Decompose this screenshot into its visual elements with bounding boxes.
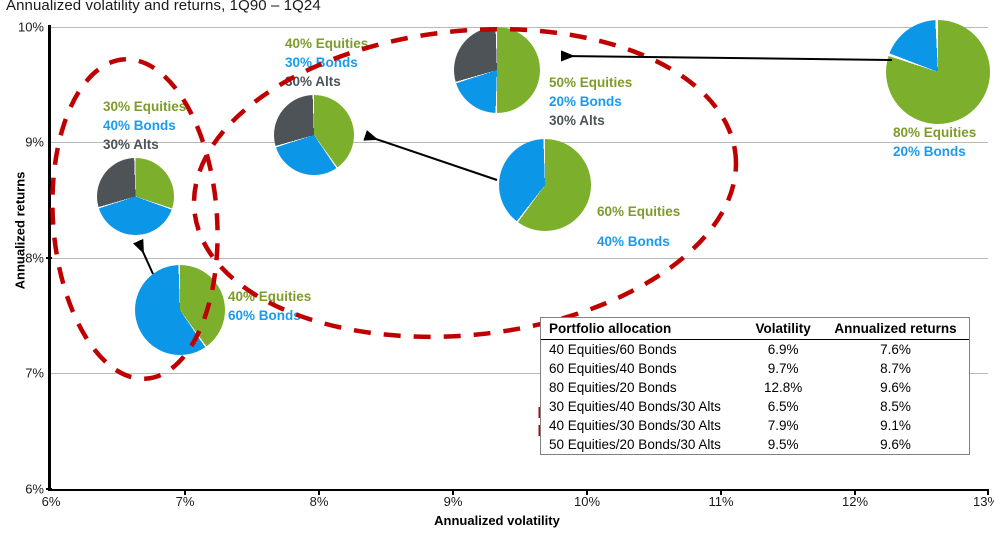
cell-allocation: 80 Equities/20 Bonds xyxy=(541,378,744,397)
pie-40-60-equities: 40% Equities xyxy=(228,287,311,306)
x-tick-10: 10% xyxy=(574,494,600,509)
x-tick-8: 8% xyxy=(310,494,329,509)
pie-60-40-label: 60% Equities 40% Bonds xyxy=(597,197,680,257)
y-tick-6: 6% xyxy=(0,482,44,497)
cell-volatility: 6.9% xyxy=(744,340,820,360)
pie-40-60-label: 40% Equities 60% Bonds xyxy=(228,287,311,325)
pie-50-20-30 xyxy=(454,27,540,113)
x-tick-12: 12% xyxy=(842,494,868,509)
x-tick-mark-13 xyxy=(987,489,989,495)
x-tick-13: 13% xyxy=(973,494,994,509)
th-annualized-returns: Annualized returns xyxy=(820,318,969,340)
cell-allocation: 40 Equities/30 Bonds/30 Alts xyxy=(541,416,744,435)
x-axis-line xyxy=(48,489,988,491)
pie-30-40-30-equities: 30% Equities xyxy=(103,97,186,116)
table-row: 50 Equities/20 Bonds/30 Alts 9.5% 9.6% xyxy=(541,435,969,454)
table-row: 40 Equities/30 Bonds/30 Alts 7.9% 9.1% xyxy=(541,416,969,435)
th-volatility: Volatility xyxy=(744,318,820,340)
y-tick-mark-6 xyxy=(46,488,52,490)
pie-50-20-30-label: 50% Equities 20% Bonds 30% Alts xyxy=(549,73,632,130)
table-row: 80 Equities/20 Bonds 12.8% 9.6% xyxy=(541,378,969,397)
table-header-row: Portfolio allocation Volatility Annualiz… xyxy=(541,318,969,340)
table-row: 60 Equities/40 Bonds 9.7% 8.7% xyxy=(541,359,969,378)
th-portfolio-allocation: Portfolio allocation xyxy=(541,318,744,340)
pie-30-40-30-bonds: 40% Bonds xyxy=(103,116,186,135)
pie-40-30-30-label: 40% Equities 30% Bonds 30% Alts xyxy=(285,34,368,91)
pie-40-60 xyxy=(135,265,225,355)
cell-volatility: 9.7% xyxy=(744,359,820,378)
pie-40-30-30-equities: 40% Equities xyxy=(285,34,368,53)
cell-returns: 9.6% xyxy=(820,378,969,397)
cell-returns: 8.5% xyxy=(820,397,969,416)
pie-50-20-30-alts: 30% Alts xyxy=(549,111,632,130)
cell-volatility: 9.5% xyxy=(744,435,820,454)
table-row: 40 Equities/60 Bonds 6.9% 7.6% xyxy=(541,340,969,360)
portfolio-allocation-table: Portfolio allocation Volatility Annualiz… xyxy=(540,317,970,455)
gridline-9 xyxy=(51,142,988,143)
cell-allocation: 30 Equities/40 Bonds/30 Alts xyxy=(541,397,744,416)
x-tick-mark-8 xyxy=(318,489,320,495)
cell-returns: 9.6% xyxy=(820,435,969,454)
pie-40-60-bonds: 60% Bonds xyxy=(228,306,311,325)
cell-volatility: 6.5% xyxy=(744,397,820,416)
cell-returns: 7.6% xyxy=(820,340,969,360)
x-tick-mark-9 xyxy=(452,489,454,495)
cell-allocation: 60 Equities/40 Bonds xyxy=(541,359,744,378)
cell-allocation: 40 Equities/60 Bonds xyxy=(541,340,744,360)
y-tick-mark-8 xyxy=(46,257,52,259)
table-row: 30 Equities/40 Bonds/30 Alts 6.5% 8.5% xyxy=(541,397,969,416)
cell-returns: 9.1% xyxy=(820,416,969,435)
x-tick-6: 6% xyxy=(42,494,61,509)
x-tick-mark-12 xyxy=(854,489,856,495)
y-tick-7: 7% xyxy=(0,366,44,381)
page-title: Annualized volatility and returns, 1Q90 … xyxy=(6,0,321,14)
x-tick-7: 7% xyxy=(176,494,195,509)
cell-allocation: 50 Equities/20 Bonds/30 Alts xyxy=(541,435,744,454)
pie-30-40-30-label: 30% Equities 40% Bonds 30% Alts xyxy=(103,97,186,154)
y-tick-10: 10% xyxy=(0,20,44,35)
chart-root: Annualized volatility and returns, 1Q90 … xyxy=(0,0,994,537)
x-tick-9: 9% xyxy=(444,494,463,509)
x-tick-mark-10 xyxy=(586,489,588,495)
pie-30-40-30 xyxy=(97,158,174,235)
gridline-8 xyxy=(51,258,988,259)
pie-60-40 xyxy=(499,139,591,231)
x-tick-11: 11% xyxy=(708,494,733,509)
pie-80-20-label: 80% Equities 20% Bonds xyxy=(893,123,976,161)
pie-30-40-30-alts: 30% Alts xyxy=(103,135,186,154)
pie-60-40-bonds: 40% Bonds xyxy=(597,227,680,257)
pie-50-20-30-equities: 50% Equities xyxy=(549,73,632,92)
x-tick-mark-11 xyxy=(720,489,722,495)
x-axis-title: Annualized volatility xyxy=(0,513,994,528)
gridline-10 xyxy=(51,27,988,28)
cell-volatility: 7.9% xyxy=(744,416,820,435)
pie-80-20 xyxy=(886,20,990,124)
cell-volatility: 12.8% xyxy=(744,378,820,397)
y-axis-title: Annualized returns xyxy=(13,131,28,331)
pie-60-40-equities: 60% Equities xyxy=(597,197,680,227)
x-tick-mark-7 xyxy=(184,489,186,495)
pie-80-20-bonds: 20% Bonds xyxy=(893,142,976,161)
pie-80-20-equities: 80% Equities xyxy=(893,123,976,142)
pie-40-30-30-bonds: 30% Bonds xyxy=(285,53,368,72)
pie-40-30-30-alts: 30% Alts xyxy=(285,72,368,91)
pie-50-20-30-bonds: 20% Bonds xyxy=(549,92,632,111)
pie-40-30-30 xyxy=(274,95,354,175)
cell-returns: 8.7% xyxy=(820,359,969,378)
